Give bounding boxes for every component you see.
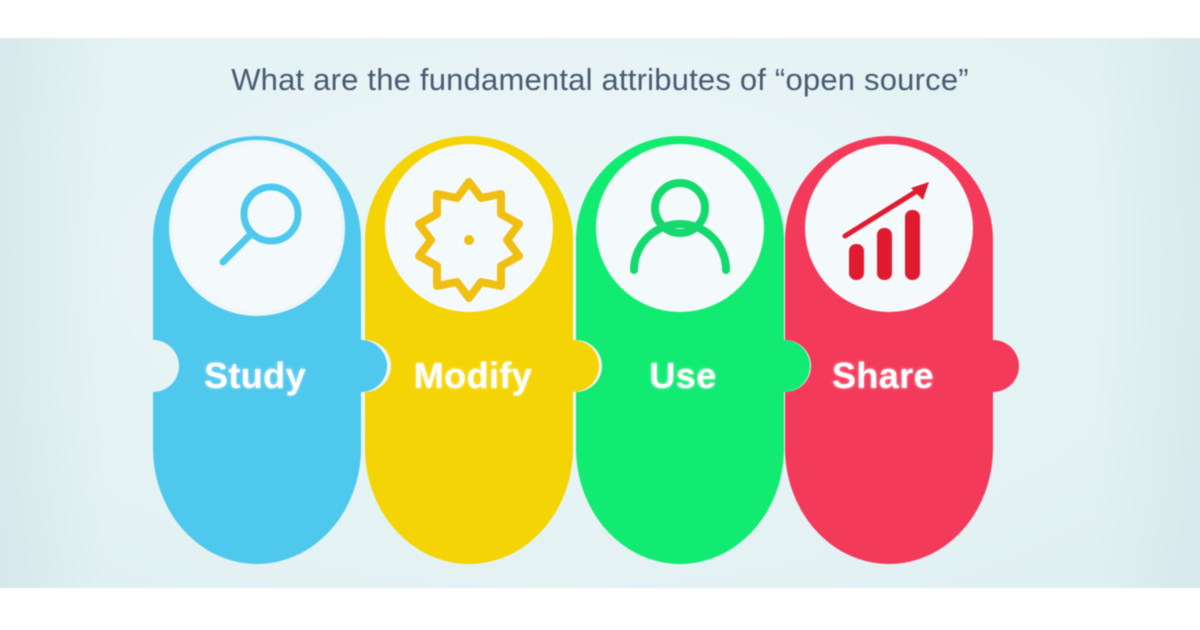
puzzle-piece-share[interactable]	[777, 128, 1037, 568]
icon-badge-inner-study	[173, 144, 341, 312]
icon-badge-modify	[385, 144, 553, 312]
puzzle-diagram: Study Modify Use	[0, 0, 1200, 630]
presentation-slide: What are the fundamental attributes of “…	[0, 0, 1200, 630]
icon-badge-share	[805, 144, 973, 312]
